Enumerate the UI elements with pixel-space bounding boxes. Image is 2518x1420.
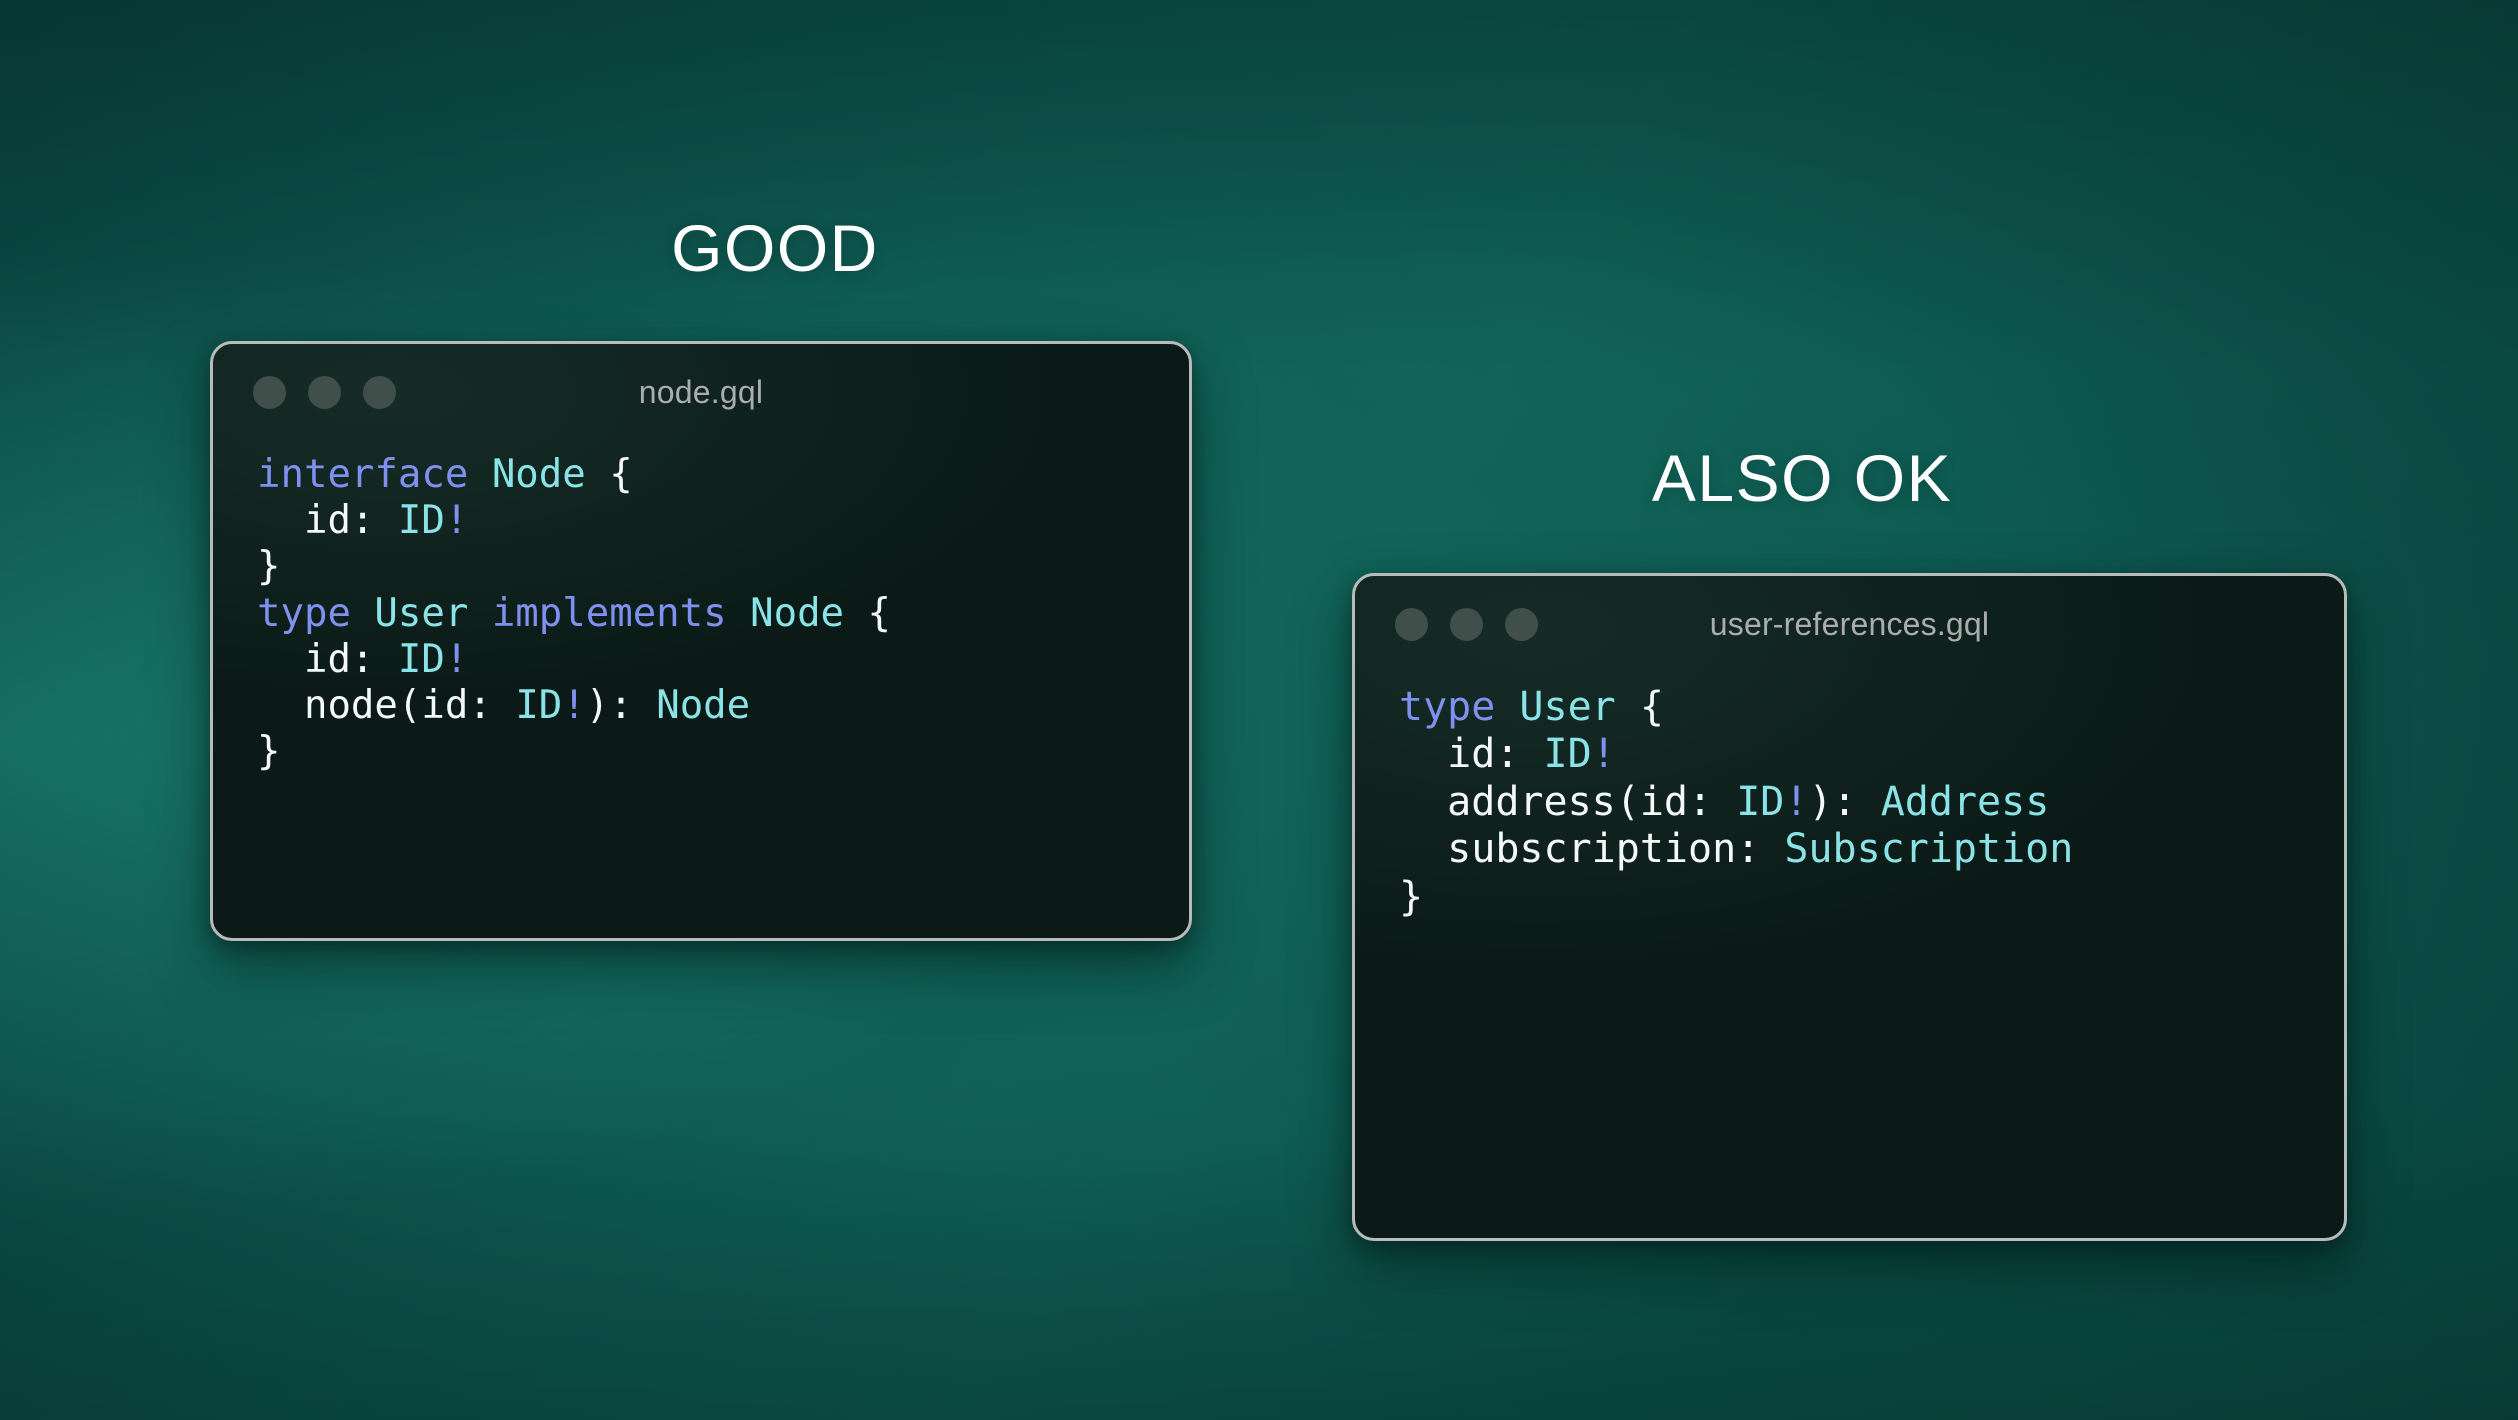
code-token-punctuation: ):	[586, 683, 656, 728]
code-token-bang: !	[445, 498, 468, 543]
code-line: interface Node {	[213, 452, 1189, 498]
code-token-punctuation: :	[1736, 826, 1784, 872]
code-token-type: Subscription	[1784, 826, 2073, 872]
code-token-plain: address	[1399, 779, 1616, 825]
code-editor-content[interactable]: interface Node { id: ID!}type User imple…	[213, 440, 1189, 775]
code-line: }	[213, 729, 1189, 775]
code-token-punctuation: ):	[1808, 779, 1880, 825]
minimize-dot-icon[interactable]	[1450, 608, 1483, 641]
code-token-punctuation: (	[1616, 779, 1640, 825]
code-line: type User {	[1355, 684, 2344, 731]
code-token-punctuation: }	[1399, 874, 1423, 920]
code-token-punctuation: {	[1640, 684, 1664, 730]
code-token-punctuation: :	[468, 683, 515, 728]
code-line: subscription: Subscription	[1355, 826, 2344, 873]
window-titlebar: node.gql	[213, 344, 1189, 440]
code-token-type: ID	[515, 683, 562, 728]
code-token-keyword: implements	[492, 591, 727, 636]
code-token-bang: !	[1592, 731, 1616, 777]
close-dot-icon[interactable]	[1395, 608, 1428, 641]
code-token-punctuation: :	[351, 498, 398, 543]
code-token-bang: !	[1784, 779, 1808, 825]
code-token-punctuation: {	[609, 452, 632, 497]
maximize-dot-icon[interactable]	[1505, 608, 1538, 641]
panel-label-good: GOOD	[545, 215, 1005, 281]
panel-label-also-ok: ALSO OK	[1562, 445, 2042, 511]
code-line: id: ID!	[213, 637, 1189, 683]
code-token-plain: id	[257, 637, 351, 682]
code-token-plain: subscription	[1399, 826, 1736, 872]
code-token-punctuation: {	[868, 591, 891, 636]
code-token-type: ID	[1736, 779, 1784, 825]
code-token-plain	[586, 452, 609, 497]
code-token-punctuation: }	[257, 729, 280, 774]
code-line: id: ID!	[1355, 731, 2344, 778]
code-line: type User implements Node {	[213, 591, 1189, 637]
code-line: node(id: ID!): Node	[213, 683, 1189, 729]
code-token-plain: node	[257, 683, 398, 728]
traffic-light-dots	[253, 376, 396, 409]
code-token-plain: id	[421, 683, 468, 728]
code-token-bang: !	[562, 683, 585, 728]
code-token-punctuation: :	[351, 637, 398, 682]
example-panel-good: GOOD node.gql interface Node { id: ID!}t…	[210, 215, 1192, 941]
code-token-punctuation: :	[1495, 731, 1543, 777]
code-token-plain	[468, 591, 491, 636]
code-token-type: Address	[1881, 779, 2050, 825]
code-line: id: ID!	[213, 498, 1189, 544]
code-line: }	[213, 544, 1189, 590]
code-token-plain	[727, 591, 750, 636]
code-token-keyword: interface	[257, 452, 468, 497]
code-token-plain	[351, 591, 374, 636]
code-token-type: Node	[750, 591, 844, 636]
code-token-type: Node	[656, 683, 750, 728]
code-token-plain: id	[257, 498, 351, 543]
code-token-type: ID	[398, 498, 445, 543]
window-titlebar: user-references.gql	[1355, 576, 2344, 672]
code-token-plain: id	[1640, 779, 1688, 825]
example-panel-also-ok: ALSO OK user-references.gql type User { …	[1352, 445, 2347, 1241]
close-dot-icon[interactable]	[253, 376, 286, 409]
code-token-type: User	[1519, 684, 1615, 730]
code-token-keyword: type	[257, 591, 351, 636]
code-token-plain	[468, 452, 491, 497]
code-token-plain: id	[1399, 731, 1495, 777]
code-window-node-gql: node.gql interface Node { id: ID!}type U…	[210, 341, 1192, 941]
code-token-bang: !	[445, 637, 468, 682]
code-token-type: ID	[1544, 731, 1592, 777]
code-token-type: User	[374, 591, 468, 636]
code-line: address(id: ID!): Address	[1355, 779, 2344, 826]
code-editor-content[interactable]: type User { id: ID! address(id: ID!): Ad…	[1355, 672, 2344, 921]
code-token-plain	[1495, 684, 1519, 730]
code-token-plain	[1616, 684, 1640, 730]
code-token-punctuation: }	[257, 544, 280, 589]
code-line: }	[1355, 874, 2344, 921]
code-token-type: Node	[492, 452, 586, 497]
code-token-punctuation: (	[398, 683, 421, 728]
minimize-dot-icon[interactable]	[308, 376, 341, 409]
code-token-punctuation: :	[1688, 779, 1736, 825]
maximize-dot-icon[interactable]	[363, 376, 396, 409]
code-token-type: ID	[398, 637, 445, 682]
code-token-keyword: type	[1399, 684, 1495, 730]
traffic-light-dots	[1395, 608, 1538, 641]
code-token-plain	[844, 591, 867, 636]
code-window-user-references-gql: user-references.gql type User { id: ID! …	[1352, 573, 2347, 1241]
